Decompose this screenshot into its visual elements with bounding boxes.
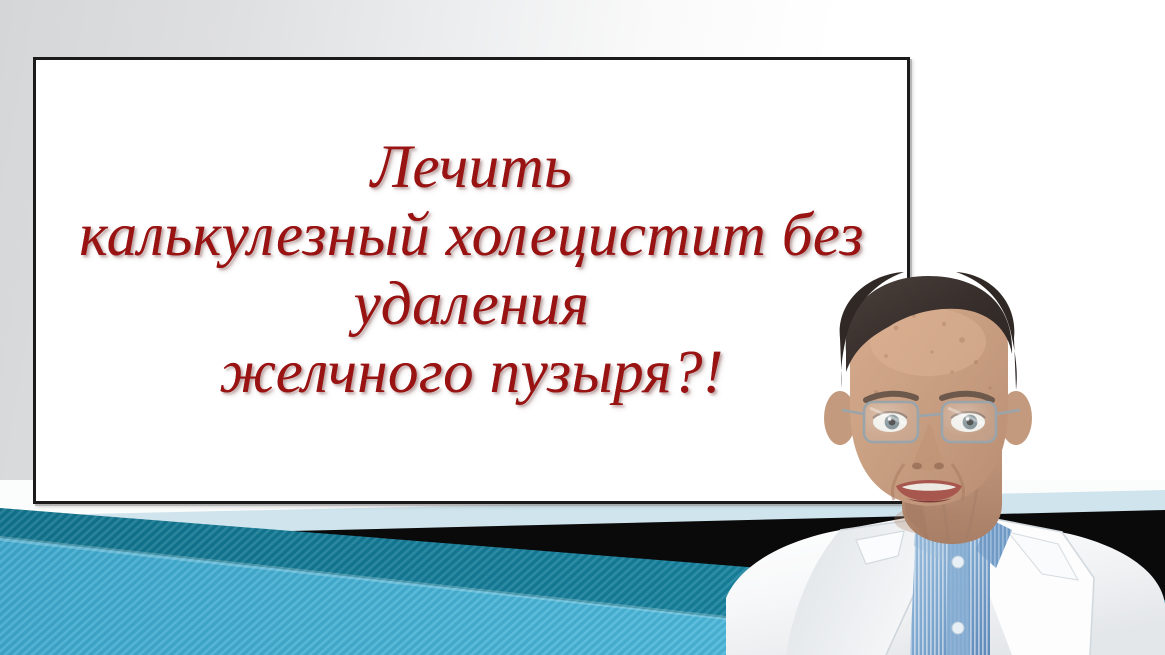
doctor-svg	[690, 268, 1165, 655]
title-line-2: калькулезный холецистит без	[79, 205, 864, 267]
title-line-3: удаления	[354, 274, 590, 336]
doctor-portrait	[690, 268, 1165, 655]
slide-canvas: Лечить калькулезный холецистит без удале…	[0, 0, 1165, 655]
title-line-1: Лечить	[371, 137, 572, 199]
doctor-figure	[726, 272, 1165, 655]
title-line-4: желчного пузыря?!	[219, 342, 723, 404]
